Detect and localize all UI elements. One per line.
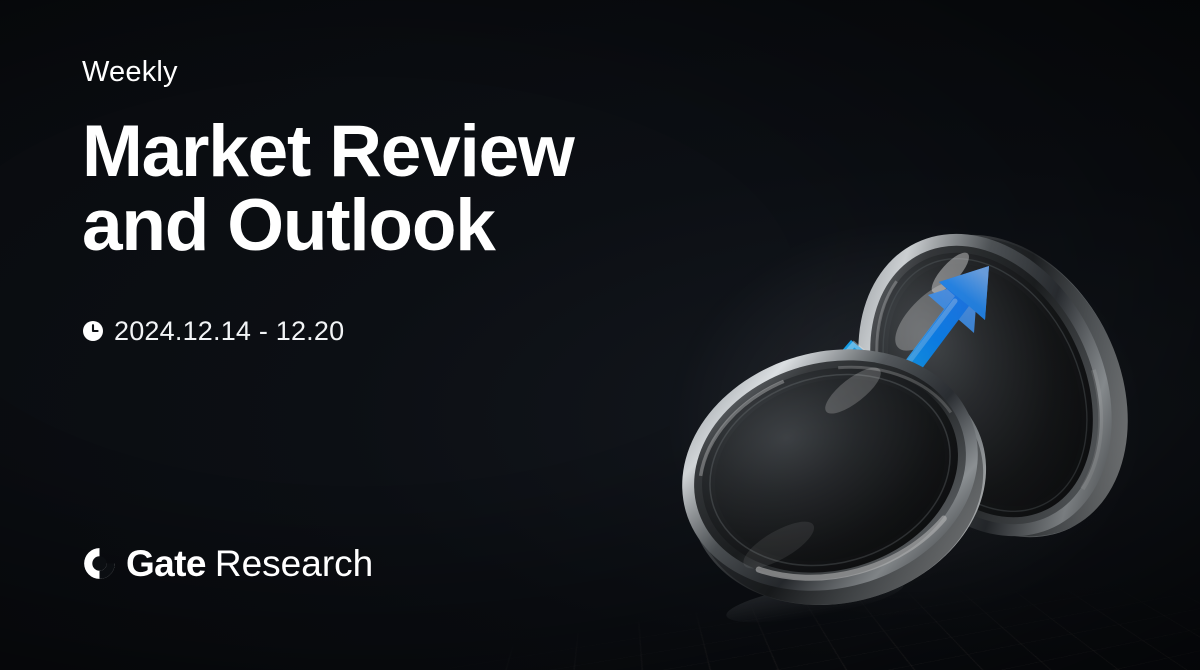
logo-suffix: Research [215,543,373,584]
weekly-market-review-banner: Weekly Market Review and Outlook 2024.12… [0,0,1200,670]
date-range: 2024.12.14 - 12.20 [82,318,722,345]
headline-block: Weekly Market Review and Outlook 2024.12… [82,58,722,345]
date-range-text: 2024.12.14 - 12.20 [114,318,344,345]
clock-icon [82,320,104,342]
kicker-label: Weekly [82,58,722,87]
logo-wordmark: GateResearch [126,545,373,582]
gate-research-logo: GateResearch [82,545,373,582]
page-title: Market Review and Outlook [82,115,722,264]
logo-brand: Gate [126,543,206,584]
gate-logo-icon [82,546,117,581]
coins-with-rising-arrow-illustration [655,170,1200,670]
